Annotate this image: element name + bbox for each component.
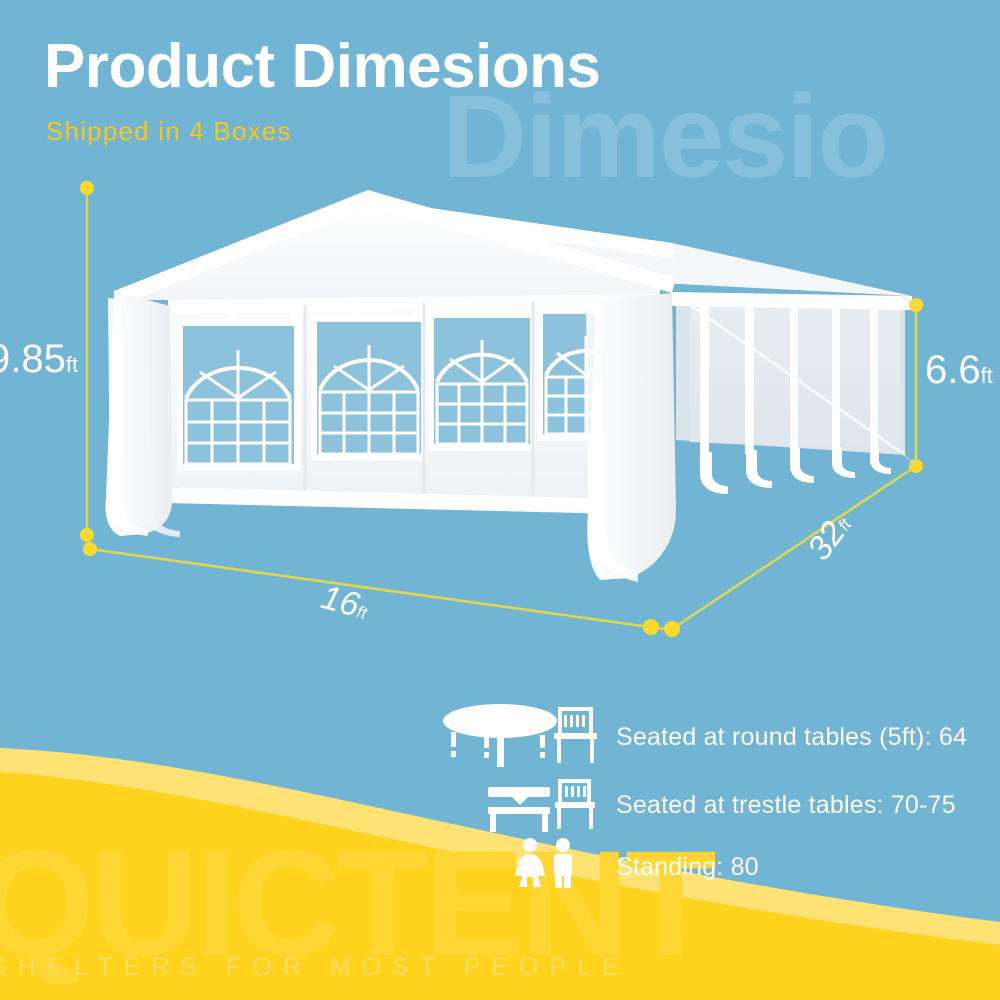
capacity-list: Seated at round tables (5ft): 64 bbox=[440, 700, 1000, 898]
trestle-table-and-chair-icon bbox=[440, 773, 600, 838]
depth-guide-line bbox=[672, 466, 916, 629]
capacity-row: Seated at round tables (5ft): 64 bbox=[440, 700, 1000, 774]
depth-guide-dot-near bbox=[664, 621, 680, 637]
height-dimension-label: 9.85ft bbox=[0, 337, 78, 382]
height-guide-dot-top bbox=[80, 181, 94, 195]
width-guide-dot-left bbox=[83, 542, 97, 556]
standing-people-icon bbox=[440, 835, 600, 900]
capacity-label: Seated at trestle tables: 70-75 bbox=[616, 791, 956, 820]
width-guide-dot-right bbox=[643, 619, 659, 635]
round-table-and-chair-icon bbox=[440, 699, 600, 776]
infographic-canvas: Dimesio QUICTENT SHELTERS FOR MOST PEOPL… bbox=[0, 0, 1000, 1000]
capacity-row: Standing: 80 bbox=[440, 836, 1000, 898]
capacity-label: Standing: 80 bbox=[616, 853, 759, 882]
width-guide-line bbox=[90, 549, 664, 629]
leader-line-bottom bbox=[900, 452, 916, 464]
height-guide-dot-bottom bbox=[80, 528, 94, 542]
capacity-label: Seated at round tables (5ft): 64 bbox=[616, 723, 967, 752]
side-height-dimension-label: 6.6ft bbox=[925, 348, 993, 393]
capacity-row: Seated at trestle tables: 70-75 bbox=[440, 774, 1000, 836]
side-height-guide-dot-top bbox=[909, 298, 923, 312]
